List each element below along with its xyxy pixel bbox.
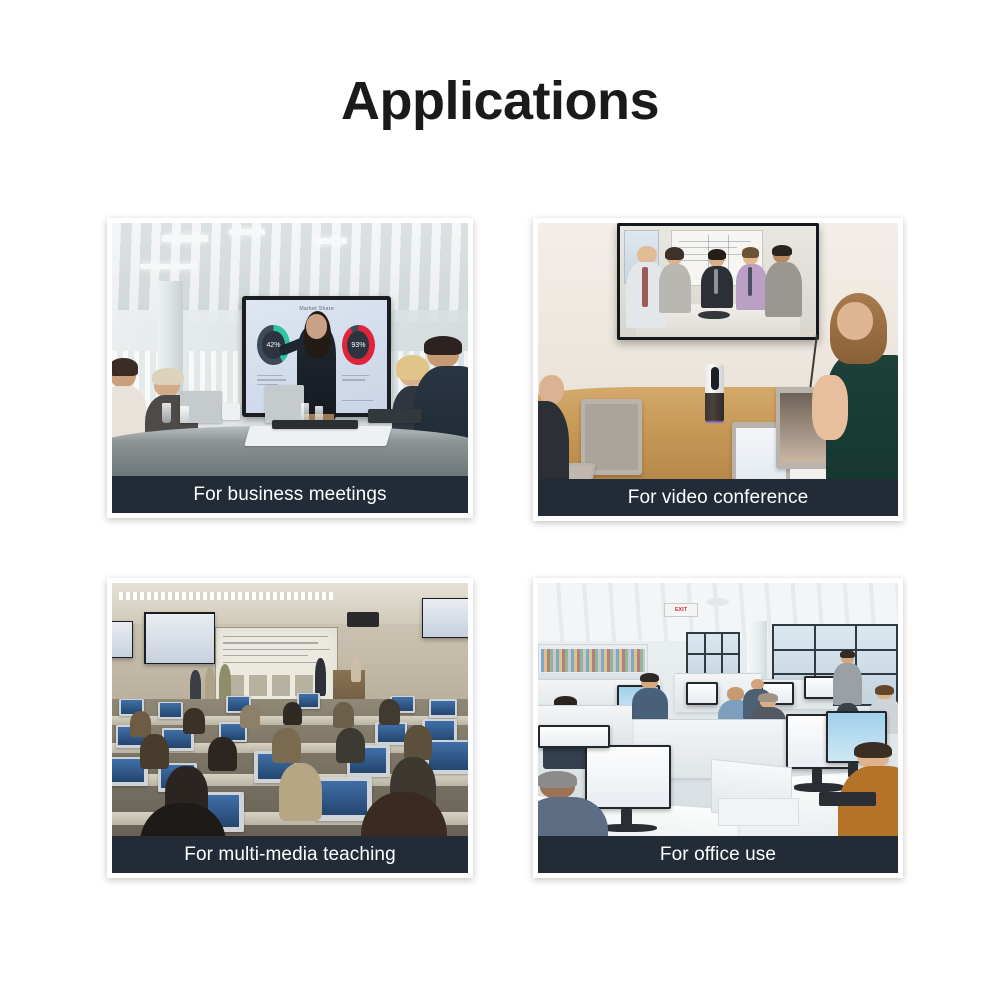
- student: [279, 763, 322, 821]
- monitor: [686, 682, 718, 705]
- ceiling-light: [140, 264, 197, 270]
- overhead-monitor: [422, 598, 468, 639]
- student: [208, 737, 236, 772]
- ceiling-light: [229, 229, 265, 235]
- student: [183, 708, 204, 734]
- card-caption-multi-media-teaching: For multi-media teaching: [112, 836, 468, 873]
- overhead-monitor: [144, 612, 215, 664]
- attendee-head: [837, 302, 873, 340]
- camera-base: [705, 393, 724, 422]
- paper: [368, 409, 421, 424]
- student: [140, 734, 168, 769]
- overhead-monitor: [112, 621, 133, 659]
- ceiling-light: [315, 238, 347, 244]
- application-card-multi-media-teaching[interactable]: For multi-media teaching: [107, 578, 473, 878]
- remote-participant: [659, 250, 690, 312]
- attendee-arm: [812, 375, 848, 439]
- student: [283, 702, 303, 725]
- drinking-glass: [180, 406, 189, 423]
- camera-head: [705, 364, 724, 394]
- photo-video-conference: For video conference: [538, 223, 898, 516]
- wall-mounted-tv: [617, 223, 819, 340]
- remote-participant: [765, 248, 802, 317]
- card-caption-business-meetings: For business meetings: [112, 476, 468, 513]
- photo-business-meetings: Market Share 42% 79% 93%: [112, 223, 468, 513]
- student: [272, 728, 300, 763]
- books: [541, 649, 645, 671]
- remote-participant: [700, 253, 733, 309]
- laptop: [315, 777, 372, 821]
- donut-chart-3: 93%: [342, 325, 375, 366]
- camera-lens-icon: [711, 367, 719, 390]
- instructor: [315, 658, 326, 696]
- student: [130, 711, 151, 737]
- student: [336, 728, 364, 763]
- student: [379, 699, 400, 725]
- ceiling-projector: [347, 612, 379, 627]
- application-card-business-meetings[interactable]: Market Share 42% 79% 93%: [107, 218, 473, 518]
- camera-led-ring: [705, 421, 725, 423]
- laptop: [429, 699, 457, 718]
- application-card-office-use[interactable]: EXIT: [533, 578, 903, 878]
- monitor: [538, 725, 610, 748]
- paper: [272, 420, 357, 429]
- photo-multi-media-teaching: For multi-media teaching: [112, 583, 468, 873]
- instructor: [190, 670, 201, 702]
- application-card-video-conference[interactable]: For video conference: [533, 218, 903, 521]
- monitor: [804, 676, 836, 699]
- drinking-glass: [162, 403, 171, 423]
- exit-sign: EXIT: [664, 603, 698, 617]
- desk-organizer: [718, 798, 799, 826]
- instructor: [351, 656, 362, 682]
- ceiling-vent: [707, 598, 729, 607]
- conference-camera: [705, 364, 724, 423]
- monitor-base: [794, 783, 844, 792]
- ceiling-light: [119, 592, 333, 601]
- tv-video-feed: [620, 226, 816, 337]
- laptop: [265, 385, 304, 423]
- student: [333, 702, 354, 728]
- donut-chart-3-label: 93%: [347, 331, 369, 359]
- instructor: [205, 667, 216, 702]
- remote-participant: [736, 250, 767, 310]
- photo-office-use: EXIT: [538, 583, 898, 873]
- student: [240, 705, 260, 728]
- paper: [244, 426, 392, 446]
- presenter-head: [306, 314, 327, 339]
- page-title: Applications: [0, 74, 1000, 128]
- laptop: [158, 702, 183, 719]
- card-caption-office-use: For office use: [538, 836, 898, 873]
- card-caption-video-conference: For video conference: [538, 479, 898, 516]
- student: [404, 725, 432, 760]
- keyboard: [819, 792, 877, 807]
- paper: [222, 403, 240, 420]
- ceiling-light: [162, 235, 208, 242]
- laptop: [375, 722, 407, 745]
